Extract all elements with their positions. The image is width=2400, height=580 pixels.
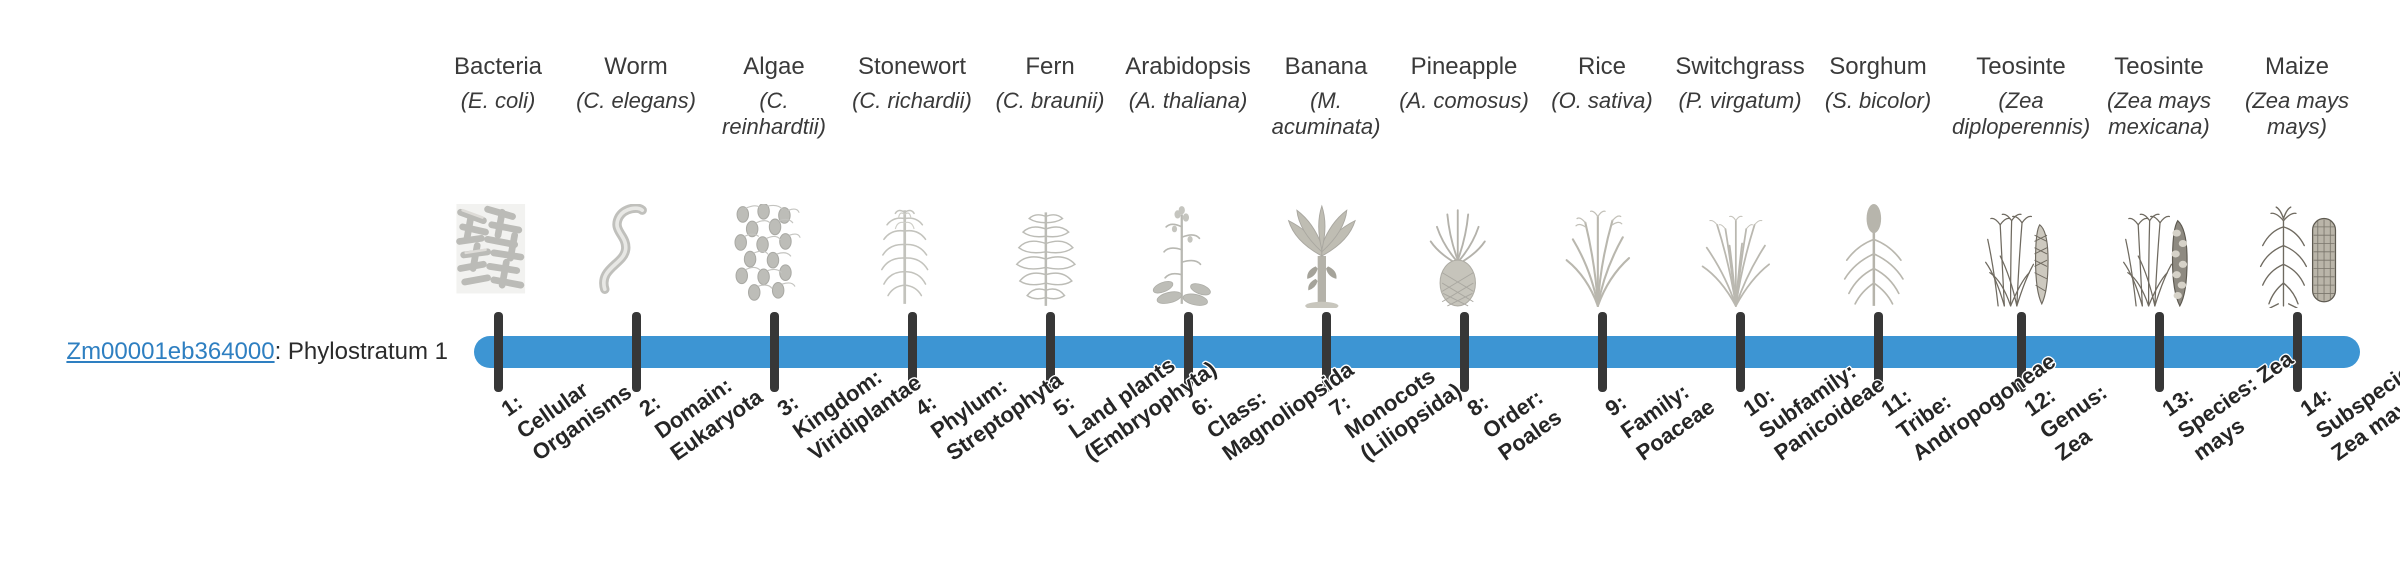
- organism-column: Switchgrass(P. virgatum): [1671, 52, 1809, 114]
- organism-column: Arabidopsis(A. thaliana): [1119, 52, 1257, 114]
- pineapple-icon: [1395, 168, 1533, 308]
- organism-common-name: Teosinte: [1952, 52, 2090, 82]
- organism-common-name: Banana: [1257, 52, 1395, 82]
- phylostratum-label: Phylostratum 1: [288, 338, 448, 365]
- organism-column: Sorghum(S. bicolor): [1809, 52, 1947, 114]
- gene-id-link[interactable]: Zm00001eb364000: [66, 338, 274, 365]
- arabidopsis-plant-icon: [1119, 168, 1257, 308]
- phylostratum-tick[interactable]: [494, 312, 503, 392]
- row-label: Zm00001eb364000: Phylostratum 1: [0, 338, 460, 366]
- organism-latin-name: (E. coli): [429, 88, 567, 114]
- algae-cells-icon: [705, 168, 843, 308]
- organism-latin-name: (Zea mays mexicana): [2090, 88, 2228, 140]
- organism-common-name: Bacteria: [429, 52, 567, 82]
- phylostratigraphy-figure: Zm00001eb364000: Phylostratum 1 Bacteria…: [0, 0, 2400, 580]
- organism-common-name: Switchgrass: [1671, 52, 1809, 82]
- organism-column: Maize(Zea mays mays): [2228, 52, 2366, 140]
- organism-latin-name: (O. sativa): [1533, 88, 1671, 114]
- organism-common-name: Teosinte: [2090, 52, 2228, 82]
- organism-column: Pineapple(A. comosus): [1395, 52, 1533, 114]
- organism-latin-name: (A. comosus): [1395, 88, 1533, 114]
- organism-latin-name: (C. reinhardtii): [705, 88, 843, 140]
- organism-latin-name: (P. virgatum): [1671, 88, 1809, 114]
- maize-ear-icon: [2228, 168, 2366, 308]
- organism-column: Fern(C. braunii): [981, 52, 1119, 114]
- label-separator: :: [275, 338, 288, 365]
- organism-common-name: Sorghum: [1809, 52, 1947, 82]
- organism-latin-name: (C. braunii): [981, 88, 1119, 114]
- organism-column: Bacteria(E. coli): [429, 52, 567, 114]
- fern-frond-icon: [981, 168, 1119, 308]
- organism-common-name: Arabidopsis: [1119, 52, 1257, 82]
- banana-plant-icon: [1257, 168, 1395, 308]
- organism-latin-name: (C. richardii): [843, 88, 981, 114]
- nematode-worm-icon: [567, 168, 705, 308]
- organism-column: Teosinte(Zea diploperennis): [1952, 52, 2090, 140]
- switchgrass-icon: [1671, 168, 1809, 308]
- organism-column: Stonewort(C. richardii): [843, 52, 981, 114]
- sorghum-plant-icon: [1809, 168, 1947, 308]
- organism-latin-name: (Zea diploperennis): [1952, 88, 2090, 140]
- organism-common-name: Pineapple: [1395, 52, 1533, 82]
- bacteria-rods-icon: [429, 168, 567, 308]
- organism-latin-name: (A. thaliana): [1119, 88, 1257, 114]
- organism-column: Teosinte(Zea mays mexicana): [2090, 52, 2228, 140]
- organism-column: Algae(C. reinhardtii): [705, 52, 843, 140]
- organism-column: Banana(M. acuminata): [1257, 52, 1395, 140]
- organism-latin-name: (Zea mays mays): [2228, 88, 2366, 140]
- organism-latin-name: (M. acuminata): [1257, 88, 1395, 140]
- teosinte-diplo-icon: [1952, 168, 2090, 308]
- organism-common-name: Algae: [705, 52, 843, 82]
- organism-latin-name: (S. bicolor): [1809, 88, 1947, 114]
- stonewort-icon: [843, 168, 981, 308]
- organism-common-name: Worm: [567, 52, 705, 82]
- organism-common-name: Maize: [2228, 52, 2366, 82]
- organism-latin-name: (C. elegans): [567, 88, 705, 114]
- organism-common-name: Fern: [981, 52, 1119, 82]
- organism-common-name: Stonewort: [843, 52, 981, 82]
- rice-plant-icon: [1533, 168, 1671, 308]
- teosinte-mexicana-icon: [2090, 168, 2228, 308]
- organism-column: Worm(C. elegans): [567, 52, 705, 114]
- organism-common-name: Rice: [1533, 52, 1671, 82]
- organism-column: Rice(O. sativa): [1533, 52, 1671, 114]
